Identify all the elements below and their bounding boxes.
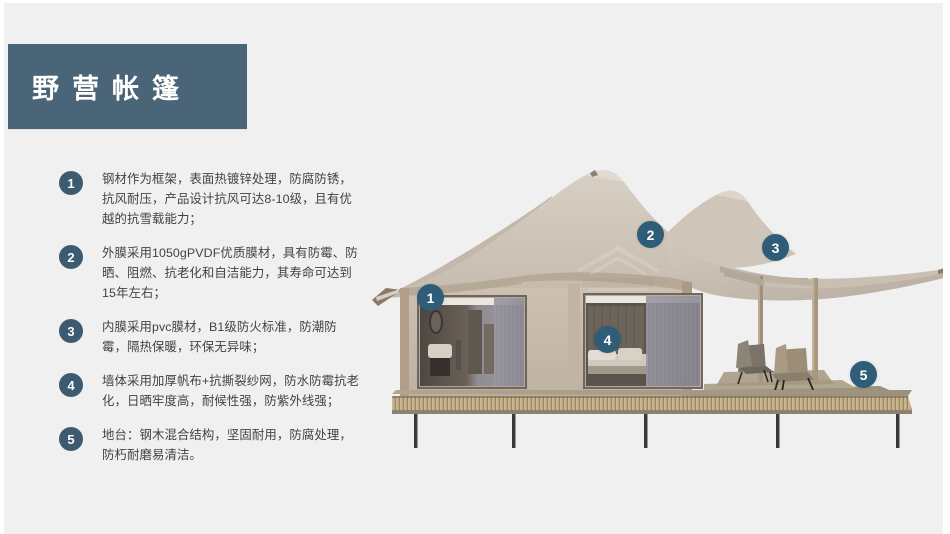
feature-text-3: 内膜采用pvc膜材，B1级防火标准，防潮防霉，隔热保暖，环保无异味；: [102, 317, 360, 357]
callout-badge-1: 1: [417, 284, 444, 311]
feature-badge-5: 5: [59, 427, 83, 451]
tent-illustration: 1 2 3 4 5: [372, 158, 950, 448]
feature-badge-1: 1: [59, 171, 83, 195]
tent-render-svg: [372, 158, 950, 448]
canvas-right-margin: [943, 3, 947, 534]
feature-list: 1 钢材作为框架，表面热镀锌处理，防腐防锈，抗风耐压，产品设计抗风可达8-10级…: [59, 169, 379, 479]
list-item: 1 钢材作为框架，表面热镀锌处理，防腐防锈，抗风耐压，产品设计抗风可达8-10级…: [59, 169, 379, 229]
feature-text-2: 外膜采用1050gPVDF优质膜材，具有防霉、防晒、阻燃、抗老化和自洁能力，其寿…: [102, 243, 360, 303]
page-title: 野营帐篷: [8, 67, 192, 106]
feature-text-1: 钢材作为框架，表面热镀锌处理，防腐防锈，抗风耐压，产品设计抗风可达8-10级，且…: [102, 169, 360, 229]
list-item: 2 外膜采用1050gPVDF优质膜材，具有防霉、防晒、阻燃、抗老化和自洁能力，…: [59, 243, 379, 303]
feature-badge-4: 4: [59, 373, 83, 397]
list-item: 5 地台：钢木混合结构，坚固耐用，防腐处理，防朽耐磨易清洁。: [59, 425, 379, 465]
feature-badge-3: 3: [59, 319, 83, 343]
callout-badge-5: 5: [850, 361, 877, 388]
slide-canvas: 野营帐篷 1 钢材作为框架，表面热镀锌处理，防腐防锈，抗风耐压，产品设计抗风可达…: [0, 0, 950, 534]
list-item: 3 内膜采用pvc膜材，B1级防火标准，防潮防霉，隔热保暖，环保无异味；: [59, 317, 379, 357]
page-title-block: 野营帐篷: [8, 44, 247, 129]
feature-text-5: 地台：钢木混合结构，坚固耐用，防腐处理，防朽耐磨易清洁。: [102, 425, 360, 465]
feature-badge-2: 2: [59, 245, 83, 269]
callout-badge-2: 2: [637, 221, 664, 248]
list-item: 4 墙体采用加厚帆布+抗撕裂纱网，防水防霉抗老化，日晒牢度高，耐候性强，防紫外线…: [59, 371, 379, 411]
callout-badge-3: 3: [762, 234, 789, 261]
feature-text-4: 墙体采用加厚帆布+抗撕裂纱网，防水防霉抗老化，日晒牢度高，耐候性强，防紫外线强；: [102, 371, 360, 411]
callout-badge-4: 4: [594, 326, 621, 353]
